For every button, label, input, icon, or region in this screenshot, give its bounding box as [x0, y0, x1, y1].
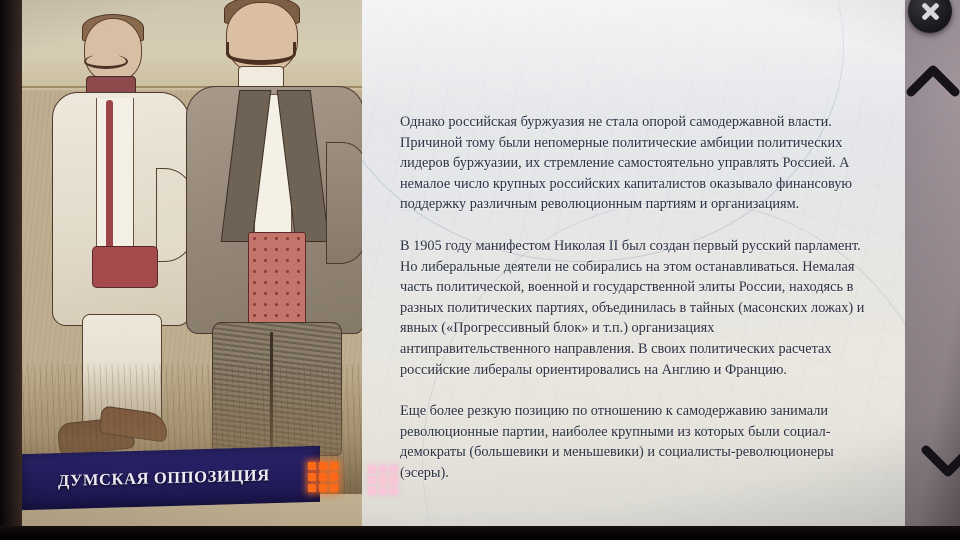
- article-body: Однако российская буржуазия не стала опо…: [400, 112, 865, 505]
- figure-left-shirt: [96, 98, 134, 248]
- screen-glare-top: [362, 0, 907, 120]
- slide-viewer-screen: ДУМСКАЯ ОППОЗИЦИЯ Однако российская бурж…: [0, 0, 960, 540]
- led-dot-grid-orange: [308, 462, 338, 492]
- figure-right-arm: [326, 142, 364, 264]
- chevron-down-icon[interactable]: [920, 438, 960, 484]
- device-bezel-bottom: [0, 526, 960, 540]
- text-panel: Однако российская буржуазия не стала опо…: [362, 0, 907, 532]
- led-dot-grid-pink: [368, 465, 398, 495]
- paragraph-1: Однако российская буржуазия не стала опо…: [400, 112, 865, 215]
- chevron-up-icon[interactable]: [905, 58, 960, 104]
- device-bezel-left: [0, 0, 22, 540]
- figure-right-moustache: [226, 42, 296, 65]
- figure-left-sash: [92, 246, 158, 288]
- slide-caption-banner: ДУМСКАЯ ОППОЗИЦИЯ: [20, 446, 320, 510]
- slide-caption-text: ДУМСКАЯ ОППОЗИЦИЯ: [20, 465, 270, 492]
- paragraph-2: В 1905 году манифестом Николая II был со…: [400, 236, 865, 380]
- figure-left-moustache: [84, 54, 128, 69]
- figure-left-tie: [106, 100, 113, 250]
- paragraph-3: Еще более резкую позицию по отношению к …: [400, 401, 865, 483]
- figure-left-head: [84, 18, 142, 82]
